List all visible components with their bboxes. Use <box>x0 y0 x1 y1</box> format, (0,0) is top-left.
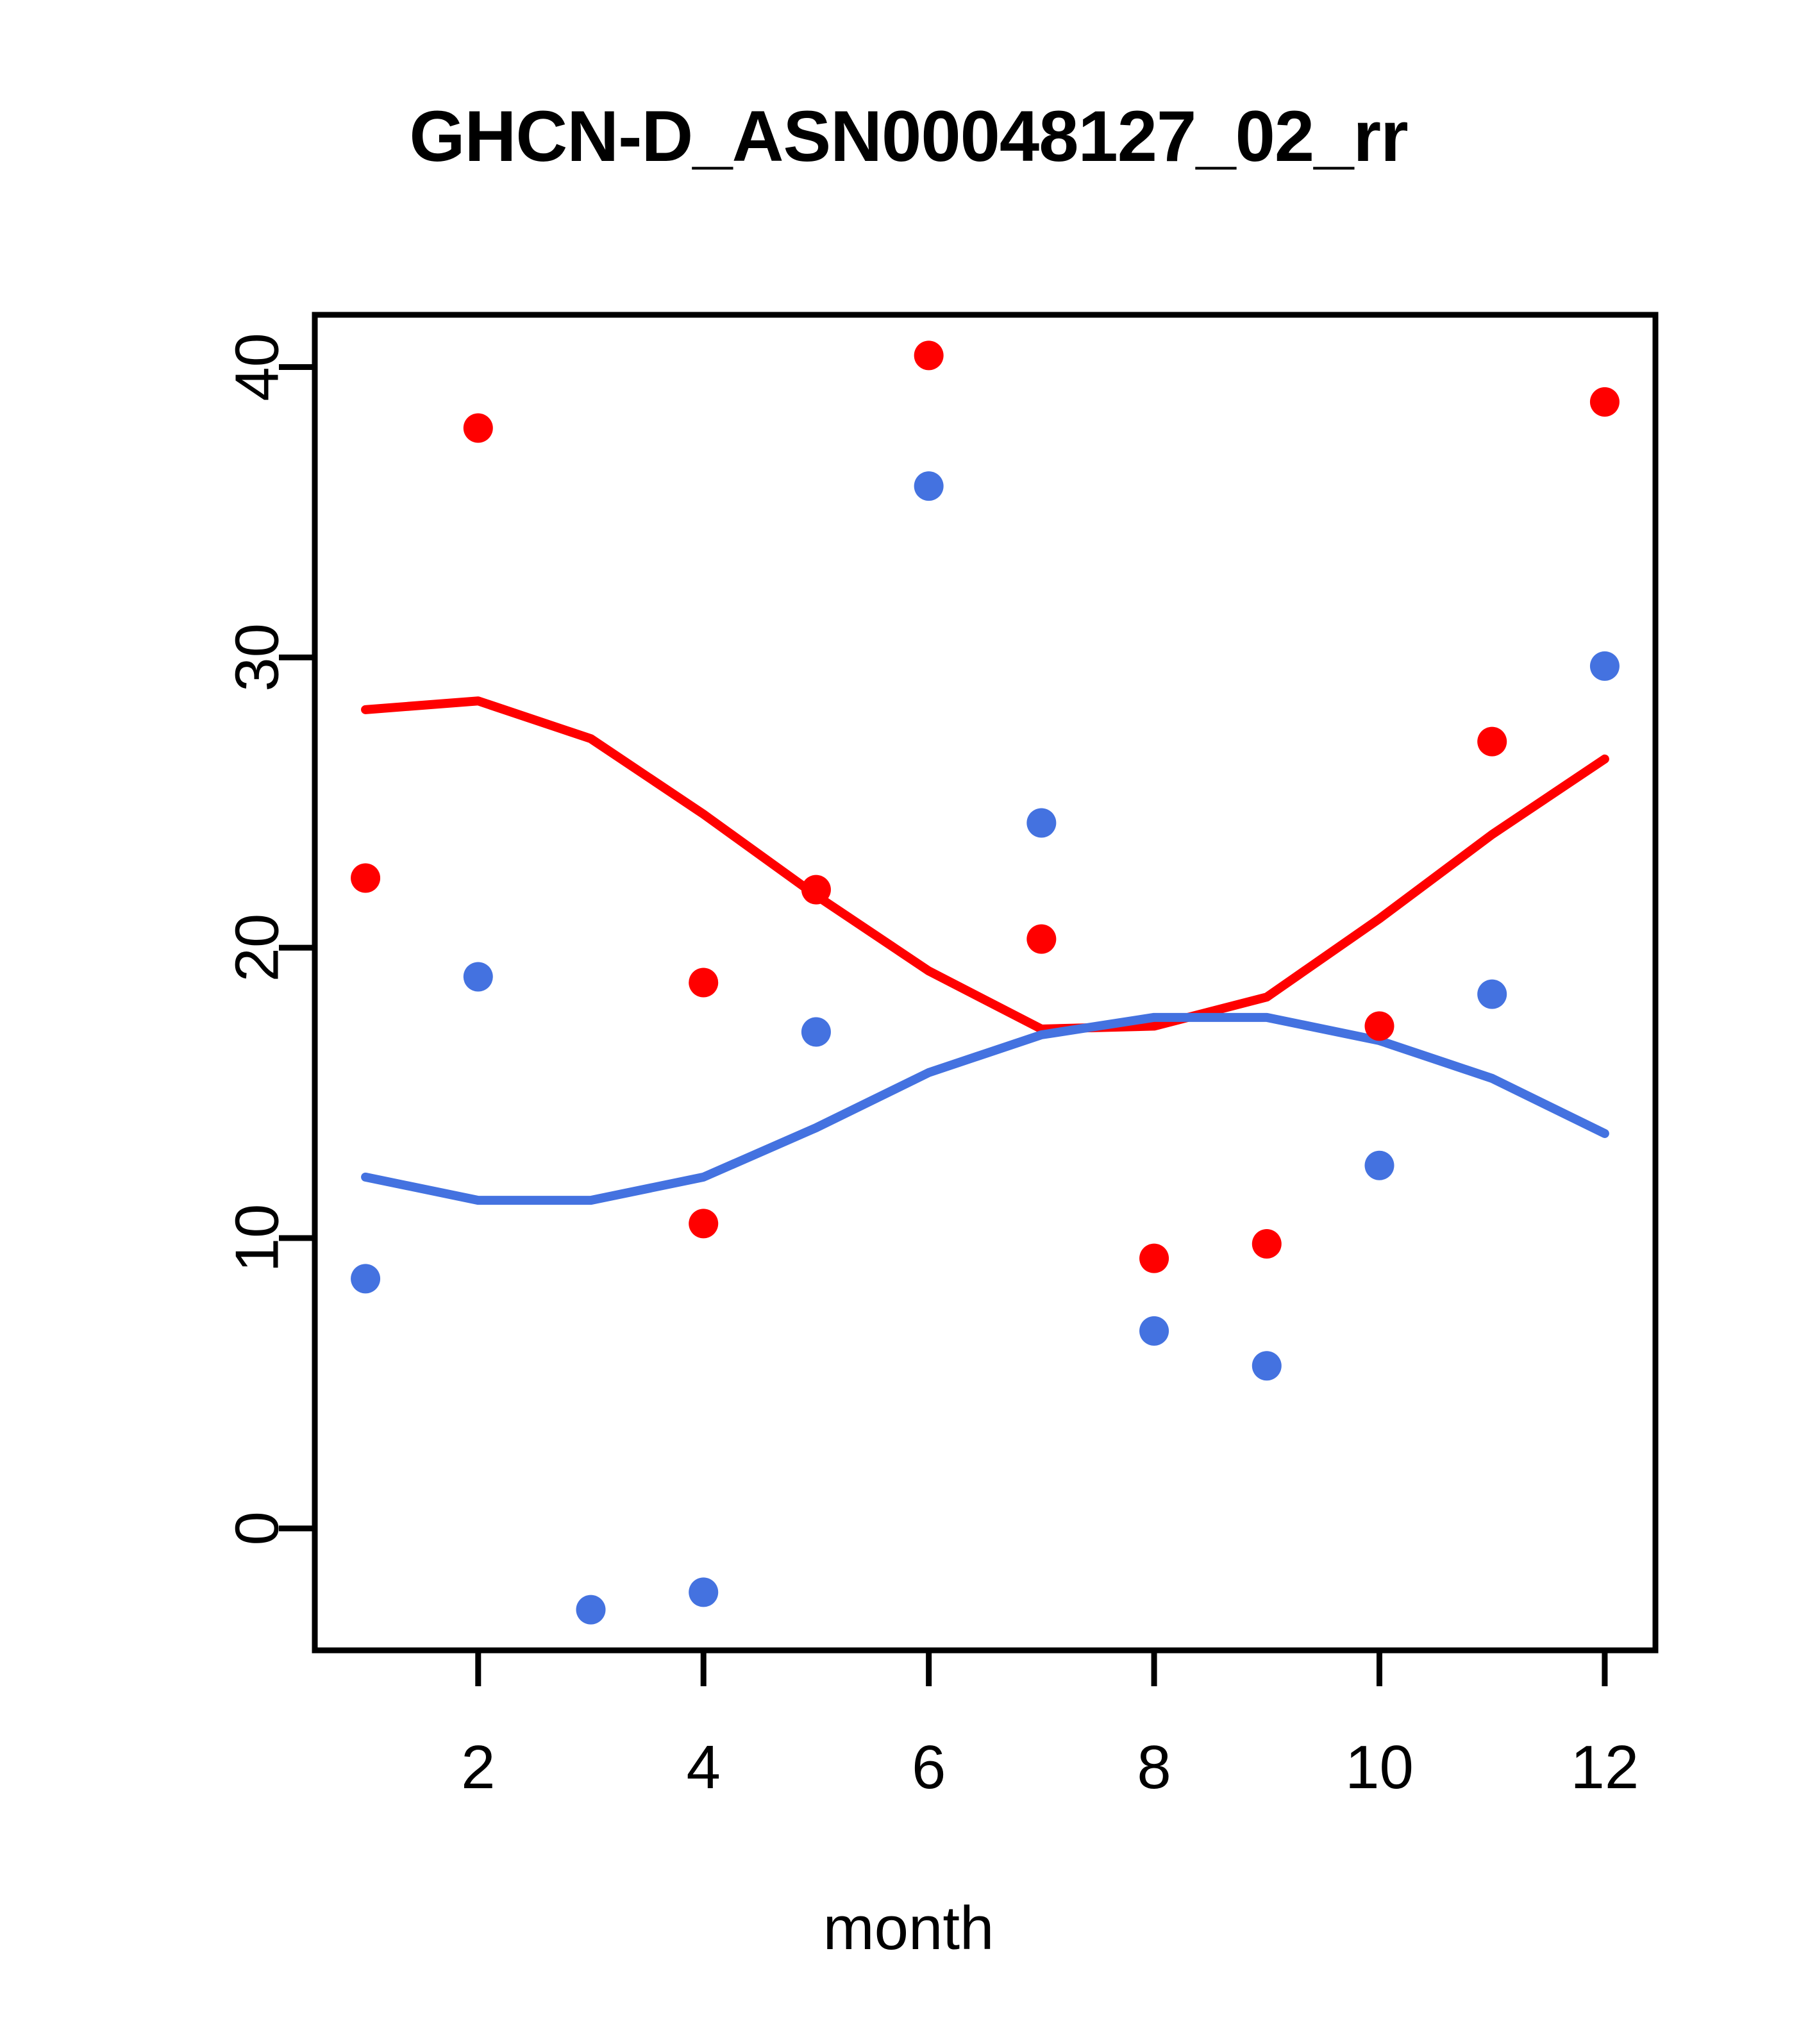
blue-data-point <box>689 1577 718 1607</box>
red-data-point <box>1477 727 1507 757</box>
red-data-point <box>351 863 380 892</box>
red-data-point <box>801 875 831 905</box>
red-data-point <box>689 968 718 998</box>
blue-data-point <box>1139 1316 1169 1346</box>
blue-data-point <box>1590 651 1620 681</box>
y-tick-label: 0 <box>223 1511 292 1545</box>
blue-data-point <box>1026 808 1056 837</box>
chart-canvas: 010203040 24681012 month <box>0 0 1817 2044</box>
blue-data-point <box>914 471 944 501</box>
blue-data-point <box>464 962 493 991</box>
plot-frame <box>315 315 1655 1650</box>
red-data-point <box>1365 1011 1394 1041</box>
blue-smooth-line <box>365 1018 1605 1200</box>
red-data-point <box>1252 1229 1282 1259</box>
y-tick-label: 30 <box>223 623 292 692</box>
y-axis-tick-labels: 010203040 <box>223 333 292 1545</box>
x-tick-label: 10 <box>1345 1733 1414 1802</box>
y-tick-label: 20 <box>223 914 292 982</box>
red-data-point <box>1026 925 1056 954</box>
blue-data-point <box>1365 1151 1394 1180</box>
blue-data-point <box>1477 980 1507 1009</box>
series-points <box>351 340 1620 1624</box>
blue-data-point <box>801 1017 831 1046</box>
red-smooth-line <box>365 701 1605 1029</box>
blue-data-point <box>1252 1351 1282 1380</box>
blue-data-point <box>351 1264 380 1293</box>
red-data-point <box>464 414 493 443</box>
y-tick-label: 40 <box>223 333 292 401</box>
blue-data-point <box>576 1595 606 1625</box>
x-axis-label: month <box>823 1894 994 1963</box>
x-tick-label: 8 <box>1137 1733 1171 1802</box>
x-tick-label: 4 <box>687 1733 721 1802</box>
y-tick-label: 10 <box>223 1204 292 1273</box>
x-axis-tick-labels: 24681012 <box>461 1733 1639 1802</box>
x-tick-label: 6 <box>912 1733 946 1802</box>
red-data-point <box>914 340 944 370</box>
x-tick-label: 2 <box>461 1733 495 1802</box>
series-lines <box>365 701 1605 1200</box>
x-axis-ticks <box>478 1650 1605 1686</box>
chart-page: GHCN-D_ASN00048127_02_rr 010203040 24681… <box>0 0 1817 2044</box>
red-data-point <box>1590 387 1620 417</box>
red-data-point <box>1139 1244 1169 1273</box>
x-tick-label: 12 <box>1571 1733 1639 1802</box>
red-data-point <box>689 1209 718 1238</box>
